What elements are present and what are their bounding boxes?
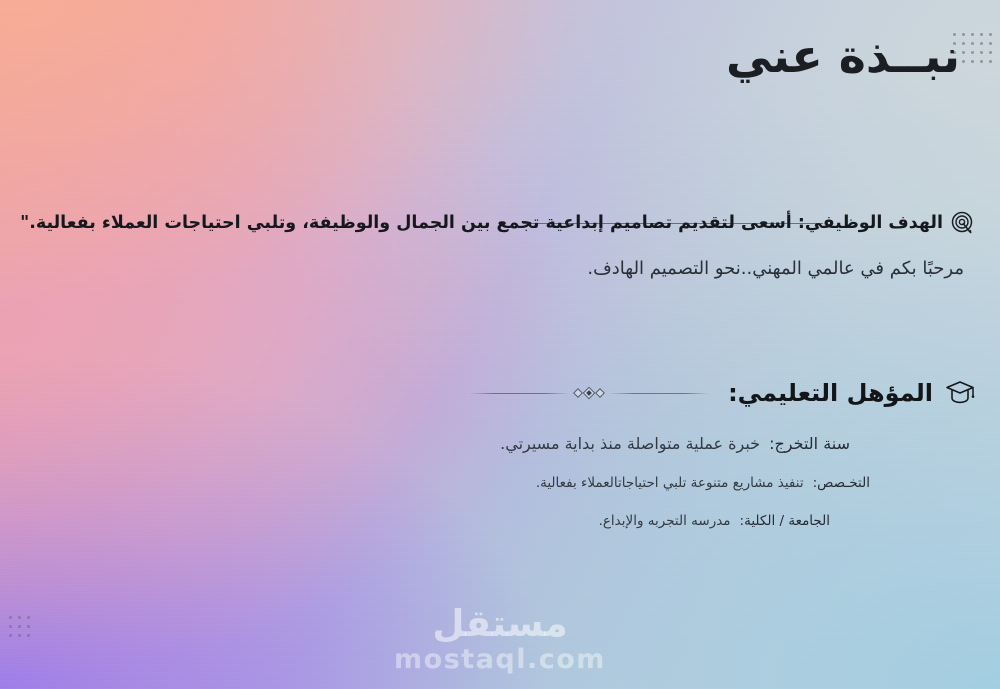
education-label: التخـصص:: [813, 475, 870, 491]
divider-gem-left: [573, 388, 583, 398]
dot: [980, 42, 983, 45]
slide-canvas: نبــذة عني الهدف الوظيفي: أسعى لتقديم تص…: [0, 0, 1000, 689]
education-list: سنة التخرج: خبرة عملية متواصلة منذ بداية…: [24, 434, 976, 529]
objective-section: الهدف الوظيفي: أسعى لتقديم تصاميم إبداعي…: [24, 210, 976, 279]
watermark-latin: mostaql.com: [0, 644, 1000, 675]
objective-text: الهدف الوظيفي: أسعى لتقديم تصاميم إبداعي…: [20, 213, 943, 233]
welcome-text: مرحبًا بكم في عالمي المهني..نحو التصميم …: [24, 258, 976, 279]
dot: [989, 33, 992, 36]
graduation-cap-icon: [944, 378, 976, 408]
objective-line: الهدف الوظيفي: أسعى لتقديم تصاميم إبداعي…: [24, 210, 976, 236]
education-heading: المؤهل التعليمي:: [728, 379, 933, 407]
dot: [962, 60, 965, 63]
list-item: التخـصص: تنفيذ مشاريع متنوعة تلبي احتياج…: [24, 475, 976, 491]
list-item: سنة التخرج: خبرة عملية متواصلة منذ بداية…: [24, 434, 976, 453]
dot: [18, 616, 21, 619]
dot: [962, 33, 965, 36]
dot: [971, 42, 974, 45]
dot: [971, 60, 974, 63]
dot: [971, 33, 974, 36]
dot: [980, 60, 983, 63]
dot: [18, 625, 21, 628]
divider-rule-right: [609, 393, 709, 394]
dot: [9, 625, 12, 628]
dot: [989, 60, 992, 63]
dot: [962, 51, 965, 54]
dot: [18, 634, 21, 637]
dot: [27, 634, 30, 637]
list-item: الجامعة / الكلية: مدرسه التجربه والإبداع…: [24, 513, 976, 529]
education-label: الجامعة / الكلية:: [740, 513, 830, 529]
education-heading-row: المؤهل التعليمي:: [24, 378, 976, 408]
dot: [971, 51, 974, 54]
dot-grid-icon: [9, 616, 30, 637]
education-value: خبرة عملية متواصلة منذ بداية مسيرتي.: [500, 434, 760, 453]
education-value: مدرسه التجربه والإبداع.: [599, 513, 731, 529]
dot: [27, 616, 30, 619]
education-label: سنة التخرج:: [769, 434, 850, 453]
watermark-arabic: مستقل: [0, 605, 1000, 644]
dot: [989, 51, 992, 54]
dot: [980, 33, 983, 36]
dot: [980, 51, 983, 54]
dot: [962, 42, 965, 45]
dot: [9, 634, 12, 637]
watermark: مستقل mostaql.com: [0, 605, 1000, 675]
dot: [9, 616, 12, 619]
diamond-divider-ornament: [469, 386, 709, 400]
dot: [989, 42, 992, 45]
page-title: نبــذة عني: [726, 30, 960, 83]
divider-rule-left: [469, 393, 569, 394]
background-grain: [0, 0, 1000, 689]
education-section: المؤهل التعليمي: سنة التخرج: خبرة عملية …: [24, 378, 976, 529]
education-value: تنفيذ مشاريع متنوعة تلبي احتياجاتالعملاء…: [536, 475, 804, 491]
target-icon: [950, 210, 976, 236]
dot: [27, 625, 30, 628]
divider-gem-right: [595, 388, 605, 398]
